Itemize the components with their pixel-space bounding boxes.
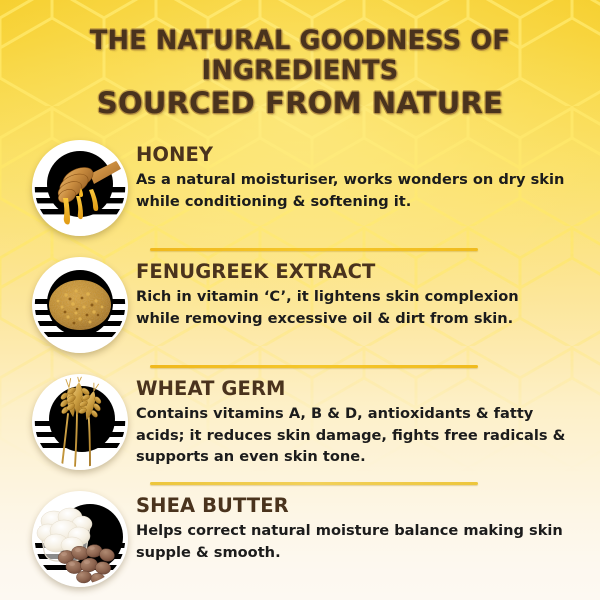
ingredient-name: HONEY bbox=[136, 144, 582, 165]
wheat-stalks-icon bbox=[32, 374, 128, 470]
ingredient-row-honey: HONEY As a natural moisturiser, works wo… bbox=[0, 140, 600, 244]
badge-wrap bbox=[28, 491, 132, 587]
ingredient-row-wheat-germ: WHEAT GERM Contains vitamins A, B & D, a… bbox=[0, 374, 600, 478]
ingredient-row-fenugreek-extract: FENUGREEK EXTRACT Rich in vitamin ‘C’, i… bbox=[0, 257, 600, 361]
title-line-1: THE NATURAL GOODNESS OF INGREDIENTS bbox=[11, 26, 590, 85]
section-divider bbox=[150, 482, 478, 485]
ingredient-description: Rich in vitamin ‘C’, it lightens skin co… bbox=[136, 286, 566, 329]
badge-wrap bbox=[28, 257, 132, 353]
badge-wrap bbox=[28, 140, 132, 236]
title-line-2: SOURCED FROM NATURE bbox=[0, 87, 600, 119]
ingredients-poster: THE NATURAL GOODNESS OF INGREDIENTS SOUR… bbox=[0, 0, 600, 600]
section-divider bbox=[150, 365, 478, 368]
ingredient-name: WHEAT GERM bbox=[136, 378, 582, 399]
ingredient-copy: FENUGREEK EXTRACT Rich in vitamin ‘C’, i… bbox=[132, 257, 582, 330]
ingredient-description: Helps correct natural moisture balance m… bbox=[136, 520, 566, 563]
honey-dipper-icon bbox=[32, 140, 128, 236]
ingredient-copy: HONEY As a natural moisturiser, works wo… bbox=[132, 140, 582, 213]
ingredient-name: FENUGREEK EXTRACT bbox=[136, 261, 582, 282]
badge-wrap bbox=[28, 374, 132, 470]
ingredient-description: As a natural moisturiser, works wonders … bbox=[136, 169, 566, 212]
ingredient-name: SHEA BUTTER bbox=[136, 495, 582, 516]
ingredient-description: Contains vitamins A, B & D, antioxidants… bbox=[136, 403, 566, 468]
poster-header: THE NATURAL GOODNESS OF INGREDIENTS SOUR… bbox=[0, 0, 600, 120]
ingredient-copy: WHEAT GERM Contains vitamins A, B & D, a… bbox=[132, 374, 582, 468]
section-divider bbox=[150, 248, 478, 251]
fenugreek-seeds-icon bbox=[32, 257, 128, 353]
ingredients-list: HONEY As a natural moisturiser, works wo… bbox=[0, 140, 600, 595]
ingredient-copy: SHEA BUTTER Helps correct natural moistu… bbox=[132, 491, 582, 564]
shea-butter-nuts-icon bbox=[32, 491, 128, 587]
ingredient-row-shea-butter: SHEA BUTTER Helps correct natural moistu… bbox=[0, 491, 600, 595]
